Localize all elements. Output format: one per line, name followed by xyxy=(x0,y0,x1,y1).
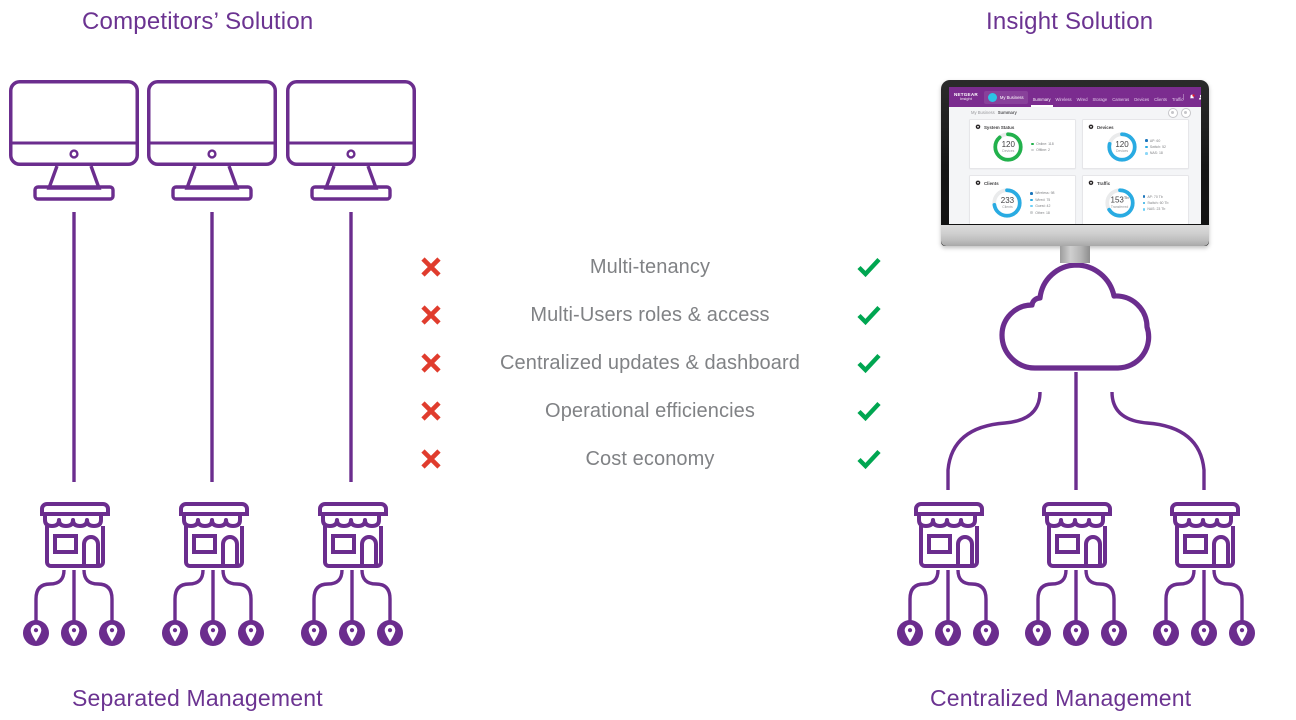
card-legend: Wireless: 98 Wired: 75 Guest: 42 Other: … xyxy=(1030,191,1054,214)
insight-dashboard: NETGEAR Insight My Business Summary Wire… xyxy=(949,87,1201,224)
competitor-location-pin xyxy=(377,620,403,646)
dashboard-navbar: NETGEAR Insight My Business Summary Wire… xyxy=(949,87,1201,107)
donut-value: 120 xyxy=(1002,141,1015,149)
competitor-store-1 xyxy=(42,504,108,566)
insight-store-2-pin-fan xyxy=(1038,570,1114,628)
cross-icon xyxy=(410,255,452,279)
donut-chart-traffic: 153Tb Transferred xyxy=(1103,186,1137,220)
menu-item-wireless[interactable]: Wireless xyxy=(1056,97,1072,107)
insight-location-pin xyxy=(1229,620,1255,646)
check-icon xyxy=(848,398,890,424)
feature-label: Cost economy xyxy=(452,448,848,471)
cross-icon xyxy=(410,351,452,375)
right-column-footer-label: Centralized Management xyxy=(930,685,1191,712)
legend-item: NAS: 23 Tb xyxy=(1143,207,1169,211)
menu-item-traffic[interactable]: Traffic xyxy=(1172,97,1183,107)
donut-chart-devices: 120 Devices xyxy=(1105,130,1139,164)
competitor-location-pin xyxy=(238,620,264,646)
monitor-screen: NETGEAR Insight My Business Summary Wire… xyxy=(949,87,1201,224)
feature-row: Cost economy xyxy=(410,435,890,483)
competitor-connector-lines xyxy=(74,212,351,482)
legend-label: NAS: 23 Tb xyxy=(1147,207,1165,211)
insight-cloud-connectors xyxy=(948,372,1204,490)
breadcrumb-actions xyxy=(1168,108,1191,118)
breadcrumb-current: Summary xyxy=(998,110,1017,115)
menu-item-storage[interactable]: Storage xyxy=(1093,97,1108,107)
donut-value: 233 xyxy=(1001,197,1014,205)
tenant-name: My Business xyxy=(1000,95,1024,100)
feature-row: Multi-tenancy xyxy=(410,243,890,291)
donut-value: 120 xyxy=(1115,141,1128,149)
card-system-status[interactable]: System Status 120 xyxy=(969,119,1076,169)
dashboard-menu: Summary Wireless Wired Storage Cameras D… xyxy=(1033,87,1184,107)
cross-icon xyxy=(410,399,452,423)
donut-chart-clients: 233 Clients xyxy=(990,186,1024,220)
insight-location-pin xyxy=(1063,620,1089,646)
alerts-icon[interactable] xyxy=(1189,94,1195,100)
card-body: 120 Devices AP: 60 Switch: 52 NAS: 18 xyxy=(1088,130,1183,164)
card-title: Clients xyxy=(984,181,999,186)
competitor-location-pin xyxy=(61,620,87,646)
diagram-canvas: Competitors’ Solution Insight Solution xyxy=(0,0,1296,720)
legend-label: Wired: 75 xyxy=(1035,198,1050,202)
insight-location-pin xyxy=(897,620,923,646)
competitor-location-pin xyxy=(99,620,125,646)
check-icon xyxy=(848,254,890,280)
feature-label: Centralized updates & dashboard xyxy=(452,352,848,375)
insight-store-3-pin-fan xyxy=(1166,570,1242,628)
legend-item: Online: 118 xyxy=(1031,142,1053,146)
menu-item-cameras[interactable]: Cameras xyxy=(1112,97,1129,107)
legend-item: NAS: 18 xyxy=(1145,151,1166,155)
monitor-bezel: NETGEAR Insight My Business Summary Wire… xyxy=(941,80,1209,246)
competitor-monitor-1 xyxy=(11,82,138,199)
legend-label: AP: 60 xyxy=(1150,139,1161,143)
card-body: 120 Devices Online: 118 Offline: 2 xyxy=(975,130,1070,164)
legend-item: AP: 70 Tb xyxy=(1143,195,1169,199)
insight-location-pin xyxy=(1191,620,1217,646)
legend-label: Other: 18 xyxy=(1035,211,1050,215)
competitor-store-3-pin-fan xyxy=(314,570,390,628)
card-title: Traffic xyxy=(1097,181,1110,186)
competitor-store-2 xyxy=(181,504,247,566)
feature-row: Centralized updates & dashboard xyxy=(410,339,890,387)
competitor-location-pin xyxy=(339,620,365,646)
legend-label: Offline: 2 xyxy=(1036,148,1050,152)
check-icon xyxy=(848,446,890,472)
netgear-logo: NETGEAR Insight xyxy=(954,93,978,102)
insight-location-pin xyxy=(1101,620,1127,646)
feature-label: Multi-tenancy xyxy=(452,256,848,279)
insight-location-pin xyxy=(973,620,999,646)
insight-store-1 xyxy=(916,504,982,566)
card-devices[interactable]: Devices 120 De xyxy=(1082,119,1189,169)
competitor-store-3 xyxy=(320,504,386,566)
competitor-location-pin xyxy=(23,620,49,646)
insight-store-2 xyxy=(1044,504,1110,566)
competitor-monitor-3 xyxy=(288,82,415,199)
legend-label: Online: 118 xyxy=(1036,142,1054,146)
legend-label: Switch: 60 Tb xyxy=(1147,201,1168,205)
menu-item-clients[interactable]: Clients xyxy=(1154,97,1167,107)
monitor-chin xyxy=(941,225,1209,246)
card-legend: AP: 70 Tb Switch: 60 Tb NAS: 23 Tb xyxy=(1143,195,1169,212)
legend-label: Wireless: 98 xyxy=(1035,191,1054,195)
feature-label: Multi-Users roles & access xyxy=(452,304,848,327)
menu-item-summary[interactable]: Summary xyxy=(1033,97,1051,107)
insight-store-3 xyxy=(1172,504,1238,566)
donut-unit: Clients xyxy=(1002,206,1012,209)
check-icon xyxy=(848,350,890,376)
competitor-store-1-pin-fan xyxy=(36,570,112,628)
donut-chart-system-status: 120 Devices xyxy=(991,130,1025,164)
donut-value-unit: Tb xyxy=(1124,195,1129,200)
card-clients[interactable]: Clients 233 Cl xyxy=(969,175,1076,224)
feature-row: Multi-Users roles & access xyxy=(410,291,890,339)
tenant-selector[interactable]: My Business xyxy=(984,91,1028,104)
insight-location-pin xyxy=(1025,620,1051,646)
dashboard-nav-actions: My Admin xyxy=(1183,94,1201,100)
card-body: 153Tb Transferred AP: 70 Tb Switch: 60 T… xyxy=(1088,186,1183,220)
feature-label: Operational efficiencies xyxy=(452,400,848,423)
refresh-round-button[interactable] xyxy=(1181,108,1191,118)
card-title: System Status xyxy=(984,125,1014,130)
legend-item: Wired: 75 xyxy=(1030,198,1054,202)
legend-item: Guest: 42 xyxy=(1030,204,1054,208)
tenant-avatar-icon xyxy=(988,93,997,102)
legend-label: Guest: 42 xyxy=(1035,204,1050,208)
card-legend: AP: 60 Switch: 52 NAS: 18 xyxy=(1145,139,1166,156)
card-traffic[interactable]: Traffic 153Tb xyxy=(1082,175,1189,224)
competitor-location-pin xyxy=(301,620,327,646)
dashboard-breadcrumb: My Business Summary xyxy=(949,107,1201,118)
competitor-store-2-pin-fan xyxy=(175,570,251,628)
insight-dashboard-monitor: NETGEAR Insight My Business Summary Wire… xyxy=(941,80,1209,262)
menu-item-devices[interactable]: Devices xyxy=(1134,97,1149,107)
card-body: 233 Clients Wireless: 98 Wired: 75 Guest… xyxy=(975,186,1070,220)
cloud-icon xyxy=(1002,265,1149,368)
feature-comparison-list: Multi-tenancy Multi-Users roles & access xyxy=(410,243,890,483)
donut-value: 153Tb xyxy=(1111,196,1129,205)
legend-item: Offline: 2 xyxy=(1031,148,1053,152)
card-title: Devices xyxy=(1097,125,1114,130)
competitor-location-pin xyxy=(162,620,188,646)
settings-round-button[interactable] xyxy=(1168,108,1178,118)
legend-item: Switch: 52 xyxy=(1145,145,1166,149)
cross-icon xyxy=(410,303,452,327)
competitor-location-pin xyxy=(200,620,226,646)
check-icon xyxy=(848,302,890,328)
insight-store-1-pin-fan xyxy=(910,570,986,628)
legend-item: Wireless: 98 xyxy=(1030,191,1054,195)
brand-product: Insight xyxy=(954,97,978,101)
dashboard-card-grid: System Status 120 xyxy=(969,119,1189,217)
legend-label: AP: 70 Tb xyxy=(1147,195,1163,199)
insight-location-pin xyxy=(1153,620,1179,646)
donut-unit: Devices xyxy=(1116,150,1128,153)
legend-label: Switch: 52 xyxy=(1150,145,1166,149)
left-column-footer-label: Separated Management xyxy=(72,685,323,712)
legend-label: NAS: 18 xyxy=(1150,151,1163,155)
legend-item: Other: 18 xyxy=(1030,211,1054,215)
donut-unit: Devices xyxy=(1002,150,1014,153)
legend-item: Switch: 60 Tb xyxy=(1143,201,1169,205)
cross-icon xyxy=(410,447,452,471)
insight-location-pin xyxy=(935,620,961,646)
feature-row: Operational efficiencies xyxy=(410,387,890,435)
card-legend: Online: 118 Offline: 2 xyxy=(1031,142,1053,152)
donut-unit: Transferred xyxy=(1111,206,1128,209)
competitor-monitor-2 xyxy=(149,82,276,199)
menu-item-wired[interactable]: Wired xyxy=(1077,97,1088,107)
breadcrumb-root[interactable]: My Business xyxy=(971,110,995,115)
user-icon[interactable] xyxy=(1198,94,1201,100)
monitor-stand-neck xyxy=(1060,246,1090,263)
legend-item: AP: 60 xyxy=(1145,139,1166,143)
